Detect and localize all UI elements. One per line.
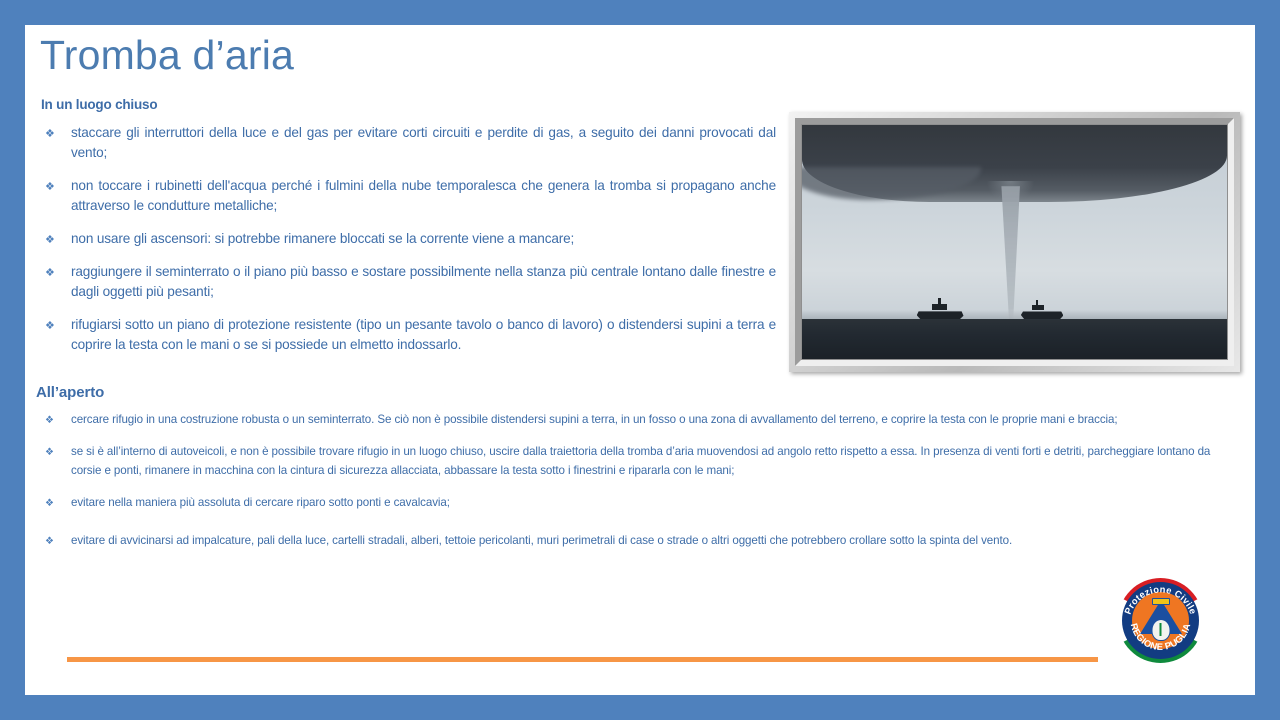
- diamond-bullet-icon: ❖: [45, 263, 55, 283]
- list-item-text: evitare nella maniera più assoluta di ce…: [71, 496, 450, 509]
- page-title: Tromba d’aria: [40, 30, 940, 80]
- list-item: ❖ non usare gli ascensori: si potrebbe r…: [41, 229, 776, 249]
- logo-top-text: Protezione Civile: [1122, 583, 1199, 615]
- logo-bottom-text: REGIONE PUGLIA: [1129, 622, 1193, 652]
- diamond-bullet-icon: ❖: [45, 443, 54, 462]
- list-item-text: se si è all’interno di autoveicoli, e no…: [71, 445, 1210, 477]
- picture-bevel: [795, 118, 1234, 366]
- bullet-list-outdoor: ❖ cercare rifugio in una costruzione rob…: [41, 410, 1221, 569]
- list-item-text: non usare gli ascensori: si potrebbe rim…: [71, 231, 574, 246]
- picture-frame: [789, 112, 1240, 372]
- section-heading-outdoor: All’aperto: [36, 384, 104, 401]
- list-item: ❖ se si è all’interno di autoveicoli, e …: [41, 442, 1221, 480]
- slide-canvas: Tromba d’aria In un luogo chiuso ❖ stacc…: [25, 25, 1255, 695]
- list-item-text: non toccare i rubinetti dell'acqua perch…: [71, 178, 776, 213]
- logo-text: Protezione Civile REGIONE PUGLIA: [1118, 578, 1203, 663]
- orange-divider: [67, 657, 1098, 662]
- tornado-photo: [802, 125, 1227, 359]
- diamond-bullet-icon: ❖: [45, 494, 54, 513]
- section-heading-indoor: In un luogo chiuso: [41, 97, 157, 112]
- diamond-bullet-icon: ❖: [45, 230, 55, 250]
- diamond-bullet-icon: ❖: [45, 316, 55, 336]
- logo-top-textpath: Protezione Civile: [1122, 583, 1199, 615]
- slide: Tromba d’aria In un luogo chiuso ❖ stacc…: [0, 0, 1280, 720]
- photo-ship-right-mast: [1036, 300, 1039, 310]
- list-item: ❖ raggiungere il seminterrato o il piano…: [41, 262, 776, 302]
- photo-sea: [802, 319, 1227, 359]
- list-item: ❖ rifugiarsi sotto un piano di protezion…: [41, 315, 776, 355]
- diamond-bullet-icon: ❖: [45, 177, 55, 197]
- list-item: ❖ evitare nella maniera più assoluta di …: [41, 493, 1221, 512]
- list-item: ❖ non toccare i rubinetti dell'acqua per…: [41, 176, 776, 216]
- photo-horizon: [802, 310, 1227, 319]
- list-item-text: staccare gli interruttori della luce e d…: [71, 125, 776, 160]
- bullet-list-indoor: ❖ staccare gli interruttori della luce e…: [41, 123, 776, 368]
- logo-bottom-textpath: REGIONE PUGLIA: [1129, 622, 1193, 652]
- list-item-text: evitare di avvicinarsi ad impalcature, p…: [71, 534, 1012, 547]
- protezione-civile-logo: Protezione Civile REGIONE PUGLIA: [1118, 578, 1203, 663]
- list-item-text: rifugiarsi sotto un piano di protezione …: [71, 317, 776, 352]
- list-item-text: raggiungere il seminterrato o il piano p…: [71, 264, 776, 299]
- list-item: ❖ evitare di avvicinarsi ad impalcature,…: [41, 525, 1221, 556]
- list-item: ❖ cercare rifugio in una costruzione rob…: [41, 410, 1221, 429]
- diamond-bullet-icon: ❖: [45, 124, 55, 144]
- photo-ship-left-mast: [938, 298, 941, 310]
- diamond-bullet-icon: ❖: [45, 411, 54, 430]
- diamond-bullet-icon: ❖: [45, 526, 54, 557]
- list-item-text: cercare rifugio in una costruzione robus…: [71, 413, 1117, 426]
- list-item: ❖ staccare gli interruttori della luce e…: [41, 123, 776, 163]
